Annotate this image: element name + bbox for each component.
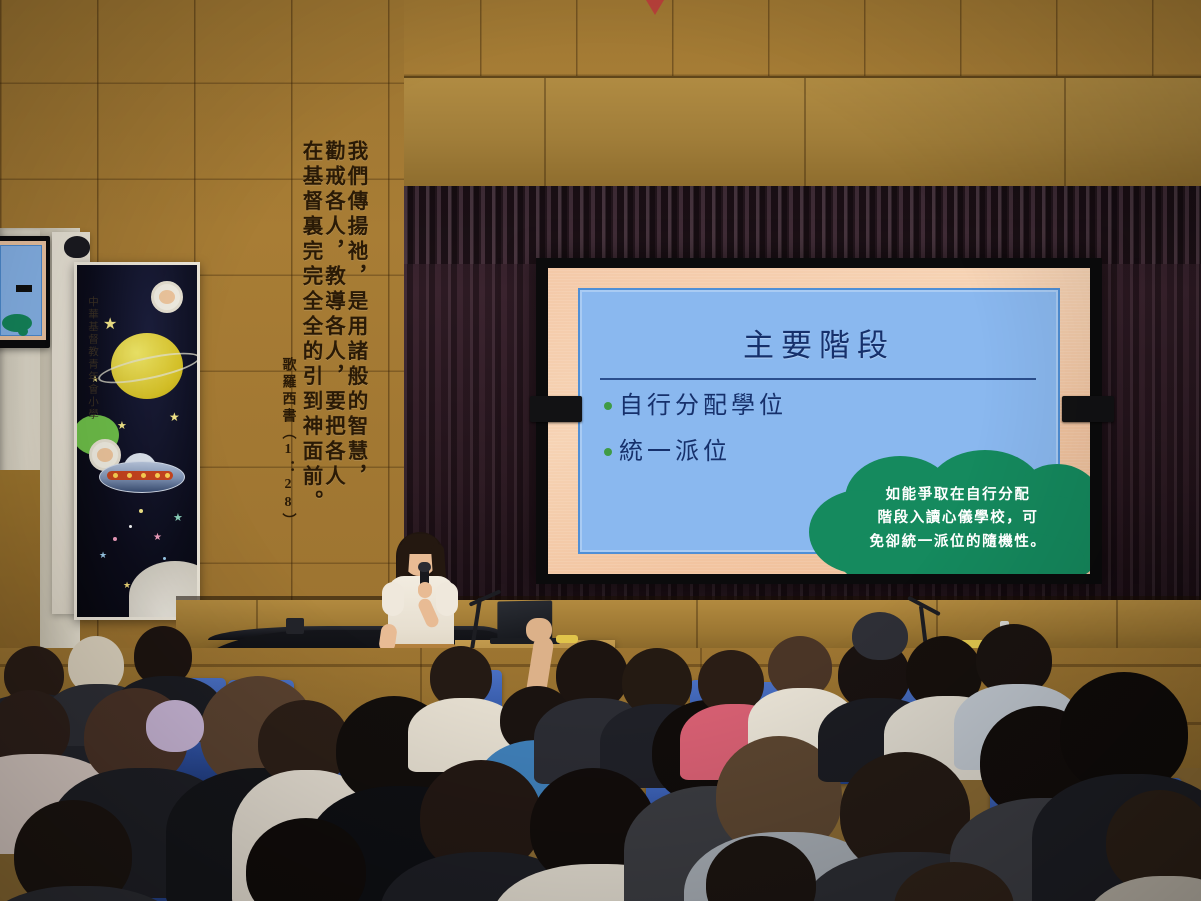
presenter-hand xyxy=(418,582,432,598)
proscenium-beam xyxy=(404,76,1201,190)
scripture-column-3: 在基督裏完完全全的引到神面前。 xyxy=(300,140,321,530)
presenter-sleeve-right xyxy=(436,582,458,616)
bullet-label: 統一派位 xyxy=(619,440,731,464)
thought-bubble: 如能爭取在自行分配 階段入讀心儀學校，可 免卻統一派位的隨機性。 xyxy=(805,450,1090,574)
screen-mount-bracket-left-icon xyxy=(530,396,582,422)
star-icon: ★ xyxy=(103,317,117,333)
star-icon: ★ xyxy=(99,551,107,560)
scripture-column-1: 我們傳揚祂，是用諸般的智慧， xyxy=(345,140,366,530)
slide-content-panel: 主要階段 自行分配學位 統一派位 xyxy=(578,288,1060,554)
thought-bubble-text: 如能爭取在自行分配 階段入讀心儀學校，可 免卻統一派位的隨機性。 xyxy=(833,484,1083,554)
desk-object-yellow xyxy=(556,635,578,643)
scripture-reference: 歌羅西書（1：28） xyxy=(278,357,298,530)
monitor-screen xyxy=(0,241,46,340)
bullet-dot-icon xyxy=(604,448,612,456)
scripture-column-2: 勸戒各人，教導各人，要把各人 xyxy=(322,140,343,530)
monitor-bubble-tail xyxy=(18,327,28,336)
list-item: 自行分配學位 xyxy=(604,394,1038,418)
screen-mount-bracket-right-icon xyxy=(1062,396,1114,422)
star-icon: ★ xyxy=(169,411,180,423)
ceiling-marker-icon xyxy=(646,0,664,15)
presenter-sleeve-left xyxy=(382,582,404,616)
assembly-hall-photo: 我們傳揚祂，是用諸般的智慧， 勸戒各人，教導各人，要把各人 在基督裏完完全全的引… xyxy=(0,0,1201,901)
wall-mounted-monitor xyxy=(0,236,50,348)
star-icon: ★ xyxy=(153,533,162,543)
banner-school-label: 中華基督教青年會小學 xyxy=(80,296,100,466)
bullet-label: 自行分配學位 xyxy=(619,394,787,418)
star-icon: ★ xyxy=(173,513,183,524)
ufo-lights-icon xyxy=(107,471,173,480)
slide-title-divider xyxy=(600,378,1036,380)
star-icon: ★ xyxy=(123,581,131,590)
bullet-dot-icon xyxy=(604,402,612,410)
slide-title: 主要階段 xyxy=(580,320,1058,365)
curtain-valance xyxy=(404,186,1201,264)
wall-scripture-text: 我們傳揚祂，是用諸般的智慧， 勸戒各人，教導各人，要把各人 在基督裏完完全全的引… xyxy=(233,140,365,530)
presentation-slide: 主要階段 自行分配學位 統一派位 xyxy=(548,268,1090,574)
monitor-mount-bar-icon xyxy=(16,285,32,292)
piano-top-object xyxy=(286,618,304,634)
projection-screen: 主要階段 自行分配學位 統一派位 xyxy=(536,258,1102,584)
microphone-head-icon xyxy=(418,562,431,572)
star-icon: ★ xyxy=(117,421,127,432)
lower-left-wall xyxy=(0,470,40,650)
banner-clip-icon xyxy=(64,236,90,258)
astronaut-icon-top xyxy=(151,281,183,313)
